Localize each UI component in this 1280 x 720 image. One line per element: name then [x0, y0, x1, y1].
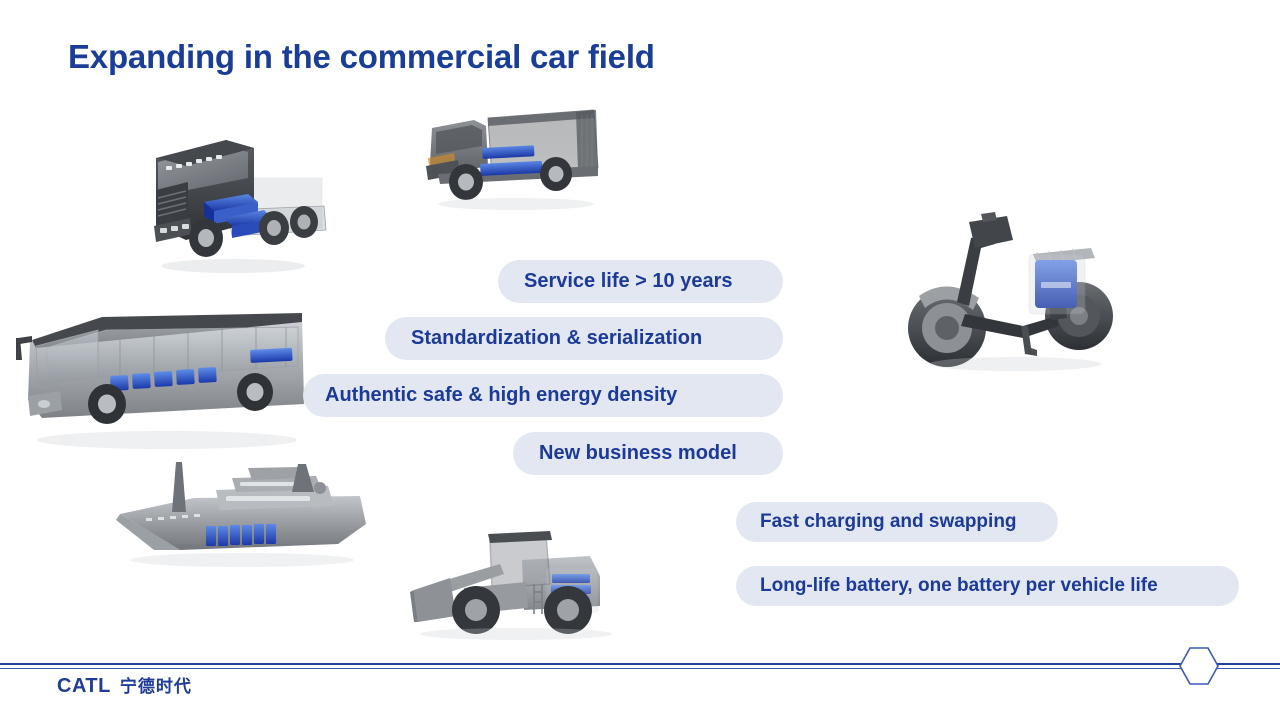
vehicle-city-bus: [2, 300, 332, 475]
catl-logo: CATL 宁德时代: [57, 672, 192, 698]
vehicle-wheel-loader: [404, 518, 636, 644]
vehicle-box-delivery-truck: [398, 104, 640, 219]
hexagon-decoration-icon: [1178, 645, 1220, 687]
secondary-pill-long-life-battery[interactable]: Long-life battery, one battery per vehic…: [736, 566, 1239, 606]
feature-pill-standardization[interactable]: Standardization & serialization: [385, 317, 783, 360]
secondary-pill-label: Fast charging and swapping: [760, 511, 1034, 533]
feature-pill-label: Service life > 10 years: [524, 270, 761, 293]
feature-pill-energy-density[interactable]: Authentic safe & high energy density: [303, 374, 783, 417]
logo-latin-text: CATL: [57, 675, 111, 698]
feature-pill-label: New business model: [539, 442, 761, 465]
feature-pill-business-model[interactable]: New business model: [513, 432, 783, 475]
feature-pill-service-life[interactable]: Service life > 10 years: [498, 260, 783, 303]
vehicle-luxury-yacht: [102, 452, 380, 580]
feature-pill-label: Standardization & serialization: [411, 327, 761, 350]
feature-pill-label: Authentic safe & high energy density: [325, 384, 761, 407]
secondary-pill-label: Long-life battery, one battery per vehic…: [760, 575, 1215, 597]
page-title: Expanding in the commercial car field: [68, 38, 655, 76]
vehicle-semi-truck-tractor: [128, 118, 343, 283]
logo-chinese-text: 宁德时代: [120, 672, 192, 697]
vehicle-electric-scooter: [895, 198, 1140, 378]
footer-divider-thick: [0, 663, 1280, 665]
slide-canvas: Expanding in the commercial car field: [0, 0, 1280, 720]
footer-divider-thin: [0, 668, 1280, 669]
secondary-pill-fast-charging[interactable]: Fast charging and swapping: [736, 502, 1058, 542]
